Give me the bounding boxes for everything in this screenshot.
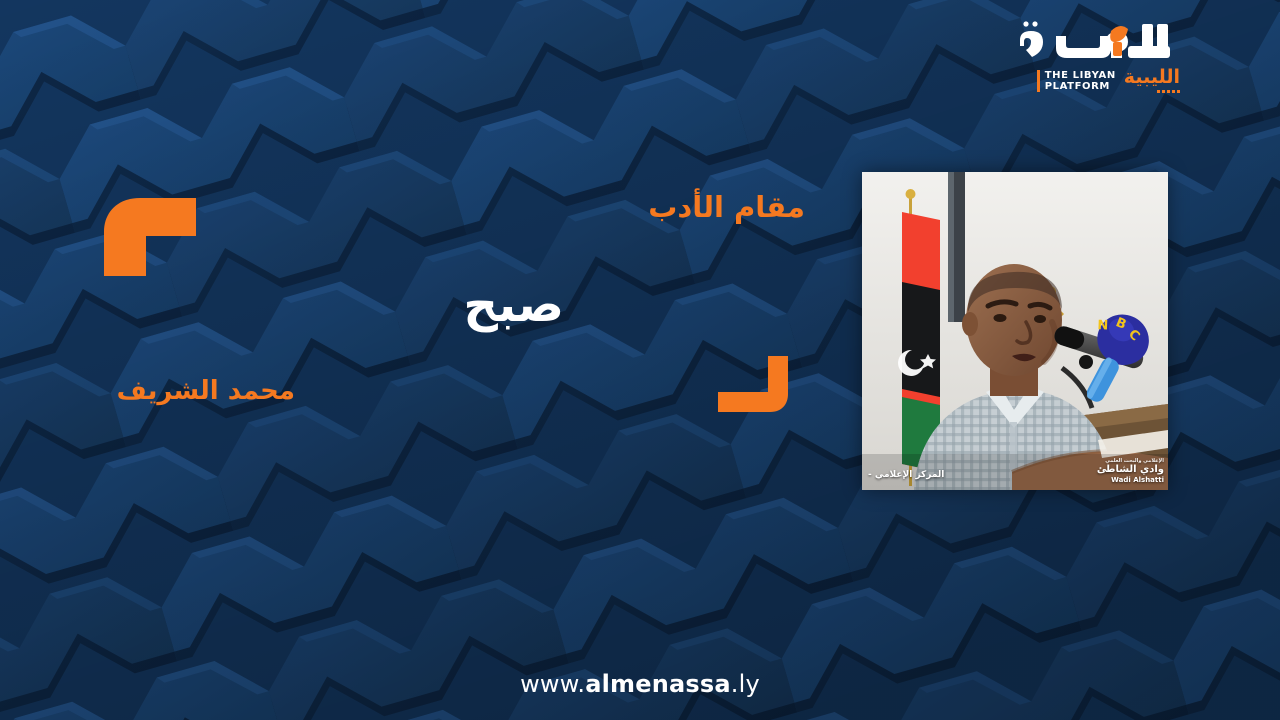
brand-logo: الليبية THE LIBYAN PLATFORM — [1010, 18, 1180, 108]
logo-dots-decoration — [1124, 90, 1180, 93]
photo-watermark-left: المركز الإعلامي - — [868, 470, 944, 480]
url-suffix: .ly — [731, 670, 760, 698]
logo-english-line1: THE LIBYAN — [1045, 70, 1116, 81]
logo-english-line2: PLATFORM — [1045, 81, 1116, 92]
program-name-label: صبح — [463, 277, 564, 333]
logo-secondary-row: الليبية THE LIBYAN PLATFORM — [1010, 68, 1180, 93]
poster-canvas: مقام الأدب صبح محمد الشريف — [0, 0, 1280, 720]
photo-watermark-right: الإعلامي والبحث العلمي وادي الشاطئ Wadi … — [1097, 459, 1164, 484]
logo-arabic-sub: الليبية — [1124, 68, 1180, 87]
svg-text:N: N — [1097, 318, 1108, 333]
url-prefix: www. — [520, 670, 585, 698]
logo-arabic-sub-wrap: الليبية — [1124, 68, 1180, 93]
photo-watermark-right-line3: Wadi Alshatti — [1097, 476, 1164, 484]
logo-arabic-wordmark-icon — [1010, 18, 1180, 66]
website-url: www.almenassa.ly — [0, 670, 1280, 698]
show-name-label: مقام الأدب — [648, 190, 805, 224]
open-quote-bracket-icon — [104, 198, 196, 276]
photo-watermark-right-line2: وادي الشاطئ — [1097, 464, 1164, 476]
guest-photo: N B C المركز الإعلامي - الإعلامي والبحث — [862, 172, 1168, 490]
photo-watermark-right-line1: الإعلامي والبحث العلمي — [1097, 459, 1164, 465]
close-quote-bracket-icon — [718, 356, 788, 412]
url-main: almenassa — [585, 670, 731, 698]
guest-name-label: محمد الشريف — [117, 376, 295, 406]
logo-english-text: THE LIBYAN PLATFORM — [1037, 70, 1116, 92]
